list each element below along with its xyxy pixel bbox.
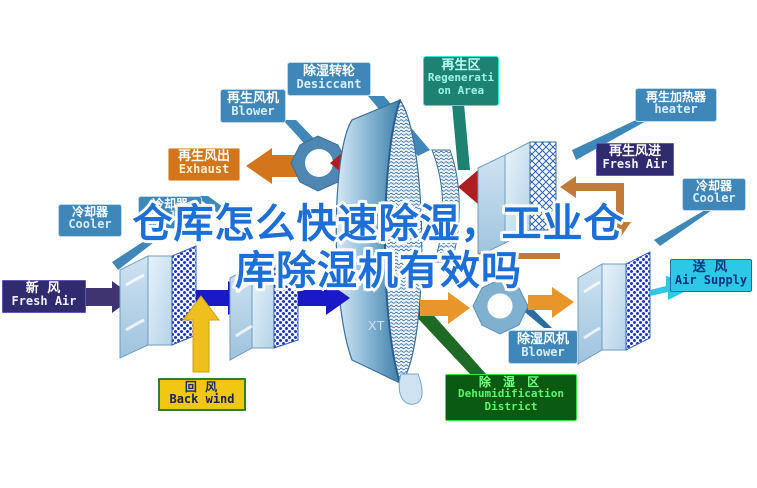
label-regen-blower[interactable]: 再生风机 Blower xyxy=(220,89,286,123)
exhaust-arrow xyxy=(246,148,297,184)
label-process-fresh-air-en: Fresh Air xyxy=(3,295,85,307)
svg-text:XT: XT xyxy=(368,318,385,333)
headline-line-2: 库除湿机有效吗 xyxy=(0,248,757,295)
label-desiccant-wheel-en: Desiccant xyxy=(288,78,370,90)
headline-overlay: 仓库怎么快速除湿，工业仓 库除湿机有效吗 xyxy=(0,201,757,295)
label-regeneration-area-cn: 再生区 xyxy=(424,59,498,72)
label-regen-fresh-air-en: Fresh Air xyxy=(597,158,673,170)
label-back-wind[interactable]: 回 风 Back wind xyxy=(158,378,246,411)
label-regen-blower-en: Blower xyxy=(221,105,285,117)
label-dehum-blower[interactable]: 除湿风机 Blower xyxy=(508,330,578,364)
label-regeneration-area-en: Regenerati on Area xyxy=(424,72,498,97)
label-regen-heater[interactable]: 再生加热器 heater xyxy=(635,88,717,122)
label-dehum-district-en: Dehumidification District xyxy=(446,388,576,413)
label-regen-heater-en: heater xyxy=(636,103,716,115)
label-dehum-blower-en: Blower xyxy=(509,346,577,358)
label-dehum-blower-cn: 除湿风机 xyxy=(509,333,577,346)
label-regen-blower-cn: 再生风机 xyxy=(221,92,285,105)
label-regeneration-area[interactable]: 再生区 Regenerati on Area xyxy=(423,56,499,106)
label-exhaust-cn: 再生风出 xyxy=(169,150,239,163)
label-exhaust[interactable]: 再生风出 Exhaust xyxy=(168,148,240,181)
diagram-canvas: XT xyxy=(0,0,757,488)
label-desiccant-wheel[interactable]: 除湿转轮 Desiccant xyxy=(287,62,371,96)
label-regen-fresh-air[interactable]: 再生风进 Fresh Air xyxy=(596,143,674,176)
label-exhaust-en: Exhaust xyxy=(169,163,239,175)
label-back-wind-en: Back wind xyxy=(160,393,244,405)
label-dehumidification-district[interactable]: 除 湿 区 Dehumidification District xyxy=(445,374,577,421)
label-regen-fresh-air-cn: 再生风进 xyxy=(597,145,673,158)
label-desiccant-wheel-cn: 除湿转轮 xyxy=(288,65,370,78)
headline-line-1: 仓库怎么快速除湿，工业仓 xyxy=(0,201,757,248)
